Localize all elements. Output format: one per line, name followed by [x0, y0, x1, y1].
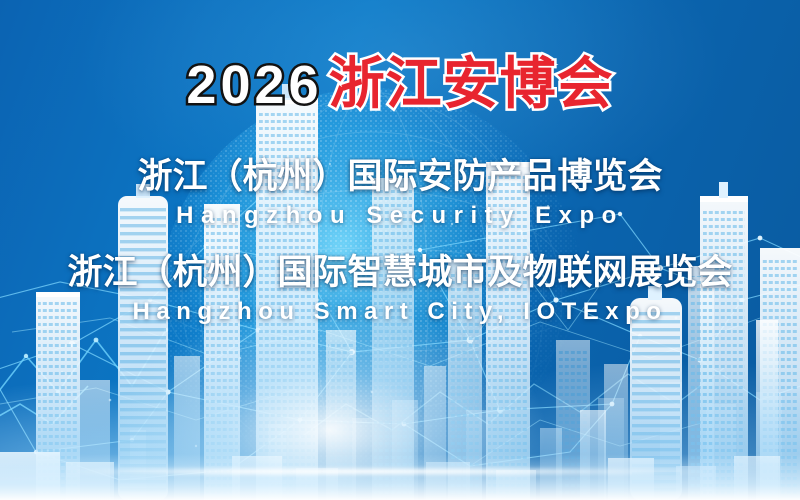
main-title: 2026浙江安博会 [0, 56, 800, 112]
title-year: 2026 [186, 55, 322, 115]
smart-city-expo-block: 浙江（杭州）国际智慧城市及物联网展览会 Hangzhou Smart City,… [0, 254, 800, 327]
title-name-cn: 浙江安博会 [329, 52, 614, 115]
smart-city-expo-title-en: Hangzhou Smart City, IOTExpo [0, 297, 800, 327]
poster-text-content: 2026浙江安博会 浙江（杭州）国际安防产品博览会 Hangzhou Secur… [0, 0, 800, 500]
poster-banner: 2026浙江安博会 浙江（杭州）国际安防产品博览会 Hangzhou Secur… [0, 0, 800, 500]
security-expo-block: 浙江（杭州）国际安防产品博览会 Hangzhou Security Expo [0, 158, 800, 231]
security-expo-title-en: Hangzhou Security Expo [0, 201, 800, 231]
smart-city-expo-title-cn: 浙江（杭州）国际智慧城市及物联网展览会 [0, 254, 800, 292]
security-expo-title-cn: 浙江（杭州）国际安防产品博览会 [0, 158, 800, 196]
